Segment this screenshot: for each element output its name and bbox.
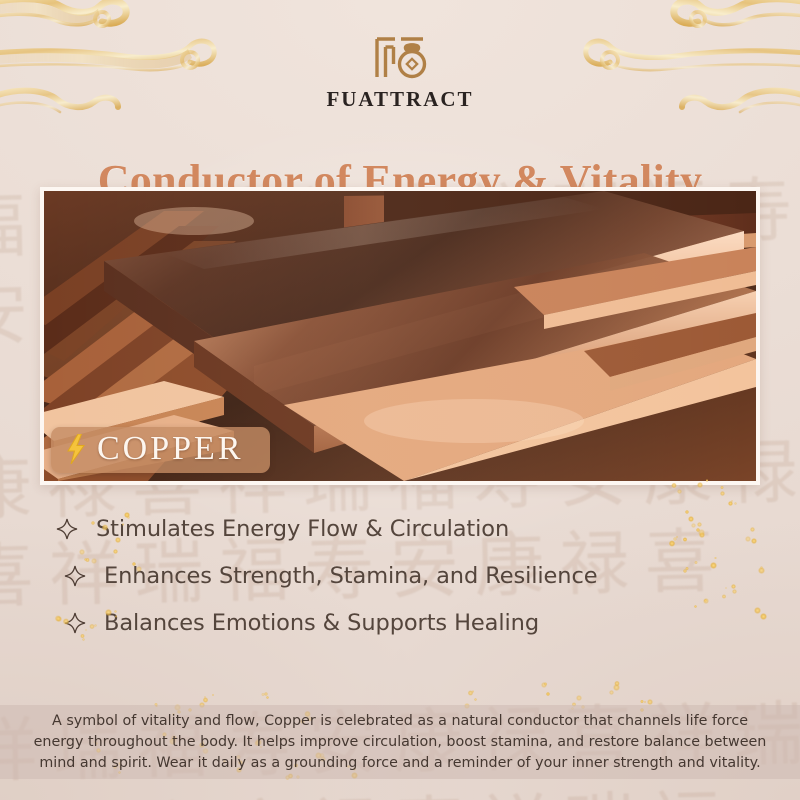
lightning-bolt-icon xyxy=(65,434,87,464)
gold-glitter-speck xyxy=(728,501,733,506)
gold-glitter-speck xyxy=(644,701,646,703)
gold-glitter-speck xyxy=(734,502,737,505)
gold-glitter-speck xyxy=(613,684,620,691)
gold-glitter-speck xyxy=(546,692,550,696)
gold-glitter-speck xyxy=(614,681,619,686)
gold-glitter-speck xyxy=(640,700,644,704)
gold-glitter-speck xyxy=(212,694,214,696)
gold-glitter-speck xyxy=(720,491,725,496)
gold-glitter-speck xyxy=(474,698,477,701)
copper-badge-label: COPPER xyxy=(97,432,244,466)
copper-badge: COPPER xyxy=(51,427,270,473)
gold-glitter-speck xyxy=(760,566,763,569)
benefit-text: Balances Emotions & Supports Healing xyxy=(104,610,539,636)
gold-glitter-speck xyxy=(720,486,724,490)
hero-image-frame: COPPER xyxy=(40,187,760,485)
hero-image: COPPER xyxy=(44,191,756,481)
gold-glitter-speck xyxy=(203,697,208,702)
gold-glitter-speck xyxy=(264,692,268,696)
footer-band: A symbol of vitality and flow, Copper is… xyxy=(0,705,800,779)
four-point-star-icon xyxy=(56,518,78,540)
list-item: Balances Emotions & Supports Healing xyxy=(64,610,760,636)
footer-description: A symbol of vitality and flow, Copper is… xyxy=(30,711,770,774)
gold-glitter-speck xyxy=(204,696,206,698)
gold-glitter-speck xyxy=(544,682,547,685)
gold-glitter-speck xyxy=(609,690,614,695)
gold-glitter-speck xyxy=(576,695,582,701)
poster-root: 福寿安康禄喜祥瑞福寿安康禄喜祥瑞福寿安 康禄喜祥瑞福寿安康禄喜祥瑞福寿安康禄喜 … xyxy=(0,0,800,800)
gold-glitter-speck xyxy=(261,693,265,697)
gold-glitter-speck xyxy=(760,613,767,620)
benefits-list: Stimulates Energy Flow & Circulation Enh… xyxy=(56,516,760,657)
list-item: Stimulates Energy Flow & Circulation xyxy=(56,516,760,542)
gold-glitter-speck xyxy=(731,500,733,502)
fuattract-logo-mark-icon xyxy=(373,34,427,82)
gold-glitter-speck xyxy=(472,690,474,692)
gold-glitter-speck xyxy=(468,690,473,695)
four-point-star-icon xyxy=(64,612,86,634)
brand-wordmark: FUATTRACT xyxy=(326,87,473,112)
gold-glitter-speck xyxy=(541,682,547,688)
list-item: Enhances Strength, Stamina, and Resilien… xyxy=(64,563,760,589)
gold-glitter-speck xyxy=(685,510,689,514)
four-point-star-icon xyxy=(64,565,86,587)
benefit-text: Stimulates Energy Flow & Circulation xyxy=(96,516,509,542)
benefit-text: Enhances Strength, Stamina, and Resilien… xyxy=(104,563,597,589)
brand-logo: FUATTRACT xyxy=(0,34,800,112)
gold-glitter-speck xyxy=(677,489,682,494)
gold-glitter-speck xyxy=(266,696,269,699)
gold-glitter-speck xyxy=(647,699,653,705)
